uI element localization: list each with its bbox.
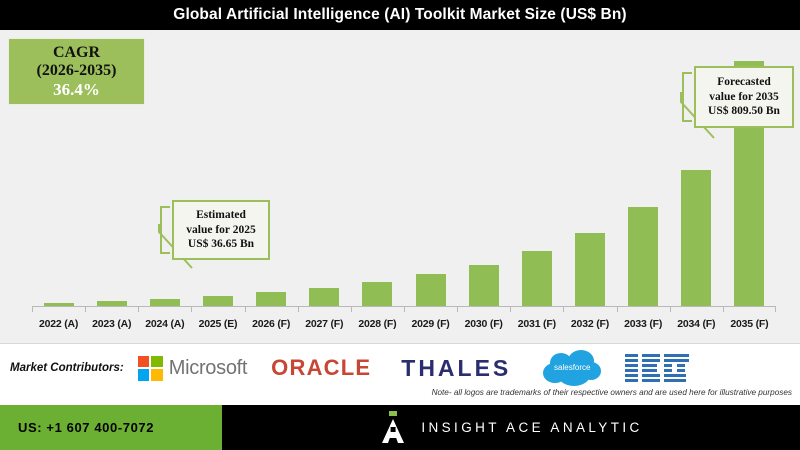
estimated-callout-line2: value for 2025 [186, 223, 255, 238]
salesforce-logo: salesforce [541, 349, 603, 387]
insightace-a-logo-icon [379, 411, 407, 445]
thales-wordmark: THALES [401, 355, 511, 382]
forecast-callout-line3: US$ 809.50 Bn [708, 104, 780, 119]
infographic-root: Global Artificial Intelligence (AI) Tool… [0, 0, 800, 450]
microsoft-logo: Microsoft [138, 356, 247, 381]
estimated-callout-line1: Estimated [196, 208, 246, 223]
contributor-logo-row: Market Contributors: Microsoft ORACLE TH… [0, 346, 800, 390]
cagr-value: 36.4% [53, 80, 100, 100]
page-title: Global Artificial Intelligence (AI) Tool… [173, 6, 626, 24]
salesforce-wordmark: salesforce [541, 363, 603, 372]
phone-number[interactable]: US: +1 607 400-7072 [18, 420, 154, 435]
cagr-title: CAGR [53, 44, 100, 62]
estimated-callout-line3: US$ 36.65 Bn [188, 237, 254, 252]
brand-name: INSIGHT ACE ANALYTIC [421, 420, 642, 435]
forecast-callout-line1: Forecasted [717, 75, 770, 90]
cagr-period: (2026-2035) [37, 62, 117, 80]
microsoft-wordmark: Microsoft [169, 357, 247, 380]
thales-logo: THALES [401, 355, 511, 382]
forecasted-value-callout: Forecasted value for 2035 US$ 809.50 Bn [694, 66, 794, 128]
forecast-callout-line2: value for 2035 [709, 90, 778, 105]
oracle-wordmark: ORACLE [271, 355, 371, 381]
chart-panel: 2022 (A)2023 (A)2024 (A)2025 (E)2026 (F)… [0, 30, 800, 343]
logo-disclaimer-note: Note- all logos are trademarks of their … [432, 388, 792, 397]
phone-banner[interactable]: US: +1 607 400-7072 [0, 405, 222, 450]
ibm-logo [625, 354, 689, 382]
microsoft-squares-icon [138, 356, 163, 381]
market-contributors-bar: Market Contributors: Microsoft ORACLE TH… [0, 343, 800, 405]
market-contributors-label: Market Contributors: [10, 362, 124, 374]
oracle-logo: ORACLE [271, 355, 371, 381]
footer-bar: US: +1 607 400-7072 INSIGHT ACE ANALYTIC [0, 405, 800, 450]
forecast-callout-bracket [682, 72, 692, 122]
cagr-box: CAGR (2026-2035) 36.4% [8, 38, 145, 105]
estimated-value-callout: Estimated value for 2025 US$ 36.65 Bn [172, 200, 270, 260]
estimated-callout-bracket [160, 206, 170, 254]
ibm-wordmark-icon [625, 354, 689, 382]
title-bar: Global Artificial Intelligence (AI) Tool… [0, 0, 800, 30]
brand-block: INSIGHT ACE ANALYTIC [222, 411, 800, 445]
